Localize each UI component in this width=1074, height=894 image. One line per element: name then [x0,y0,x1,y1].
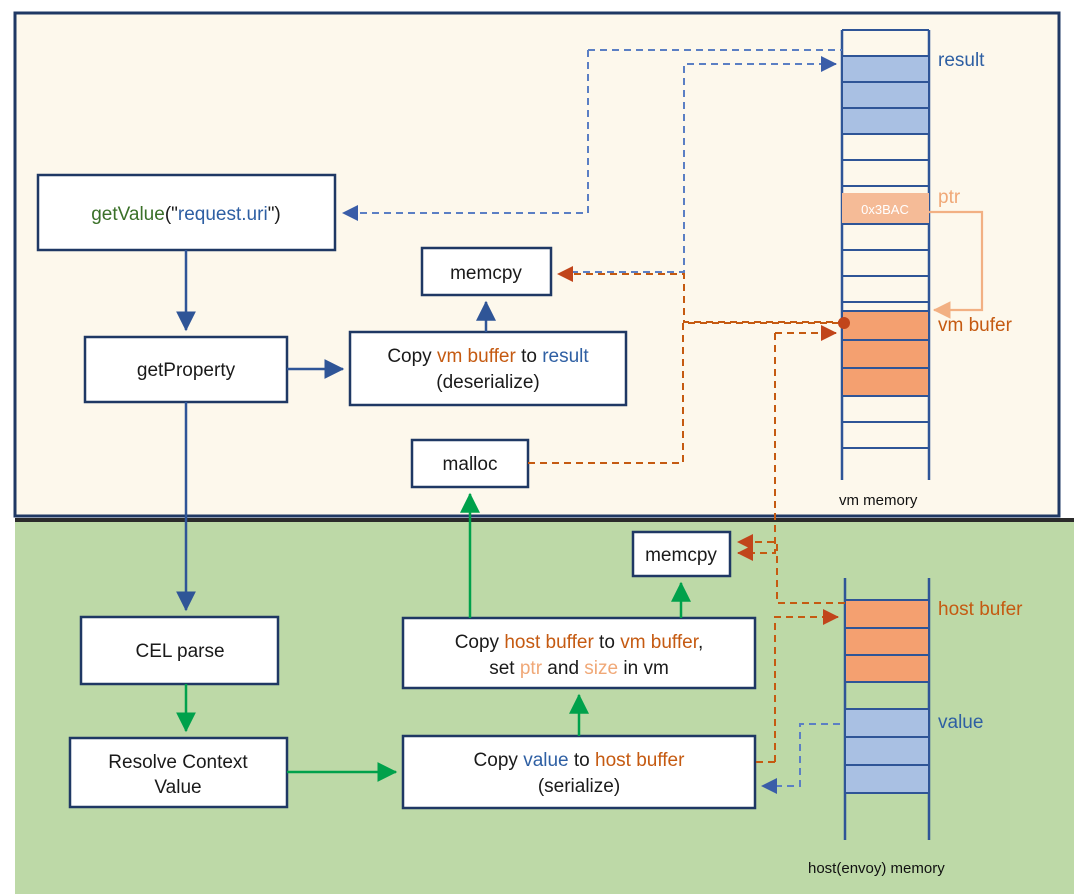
vm-ptr-address: 0x3BAC [861,202,909,217]
vm-slot-11 [842,340,929,368]
cvh-t2: to [569,750,595,771]
rcv-line1: Resolve Context [108,752,248,773]
host-memory-caption: host(envoy) memory [808,860,945,877]
chb-t6: ptr [520,658,543,679]
vm-memory-caption: vm memory [839,492,918,509]
vm-slot-12 [842,368,929,396]
svg-text:Copy vm buffer to result: Copy vm buffer to result [387,346,589,367]
get-value-close: ") [268,204,281,225]
vm-slot-1 [842,56,929,82]
ptr-label: ptr [938,187,961,208]
svg-text:Copy host buffer to vm buffer,: Copy host buffer to vm buffer, [455,632,704,653]
box-copy-host-buffer-to-vm-buffer[interactable]: Copy host buffer to vm buffer, set ptr a… [403,618,755,688]
chb-t7: and [542,658,584,679]
box-cel-parse[interactable]: CEL parse [81,617,278,684]
cvh-t4: (serialize) [538,776,620,797]
memcpy-host-label: memcpy [645,545,717,566]
host-slot-5 [845,709,929,737]
vm-buffer-anchor-dot [838,317,850,329]
chb-t1: host buffer [504,632,594,653]
box-memcpy-vm[interactable]: memcpy [422,248,551,295]
chb-t2: to [594,632,620,653]
get-property-label: getProperty [137,360,236,381]
chb-t9: in vm [618,658,669,679]
host-slot-3 [845,655,929,682]
host-slot-6 [845,737,929,765]
cvb-t1: vm buffer [437,346,517,367]
chb-t4: , [698,632,703,653]
value-label: value [938,712,983,733]
vm-slot-2 [842,82,929,108]
box-malloc[interactable]: malloc [412,440,528,487]
panel-divider [15,518,1074,522]
cvb-t3: result [542,346,589,367]
rcv-line2: Value [154,777,201,798]
cvh-t1: value [523,750,568,771]
get-value-arg: request.uri [178,204,268,225]
chb-t5: set [489,658,520,679]
vm-slot-10 [842,311,929,340]
box-get-property[interactable]: getProperty [85,337,287,402]
chb-t8: size [584,658,618,679]
chb-t0: Copy [455,632,505,653]
box-get-value[interactable]: getValue("request.uri") [38,175,335,250]
box-copy-vm-buffer-to-result[interactable]: Copy vm buffer to result (deserialize) [350,332,626,405]
box-resolve-context-value[interactable]: Resolve Context Value [70,738,287,807]
svg-text:Copy value to host buffer: Copy value to host buffer [474,750,686,771]
vm-slot-3 [842,108,929,134]
box-memcpy-host[interactable]: memcpy [633,532,730,576]
svg-text:set ptr and size in vm: set ptr and size in vm [489,658,669,679]
box-copy-value-to-host-buffer[interactable]: Copy value to host buffer (serialize) [403,736,755,808]
result-label: result [938,50,985,71]
host-slot-7 [845,765,929,793]
host-bufer-label: host bufer [938,599,1023,620]
vm-bufer-label: vm bufer [938,315,1013,336]
cvb-t2: to [516,346,542,367]
host-slot-1 [845,600,929,628]
cel-parse-label: CEL parse [135,641,224,662]
malloc-label: malloc [443,454,498,475]
memcpy-vm-label: memcpy [450,263,522,284]
get-value-fn: getValue [91,204,165,225]
cvh-t0: Copy [474,750,524,771]
diagram-svg: getValue("request.uri") getProperty memc… [0,0,1074,894]
chb-t3: vm buffer [620,632,700,653]
cvh-t3: host buffer [595,750,685,771]
cvb-t4: (deserialize) [436,372,539,393]
svg-text:getValue("request.uri"): getValue("request.uri") [91,204,281,225]
diagram-canvas: getValue("request.uri") getProperty memc… [0,0,1074,894]
host-slot-2 [845,628,929,655]
get-value-open: (" [165,204,178,225]
cvb-t0: Copy [387,346,437,367]
